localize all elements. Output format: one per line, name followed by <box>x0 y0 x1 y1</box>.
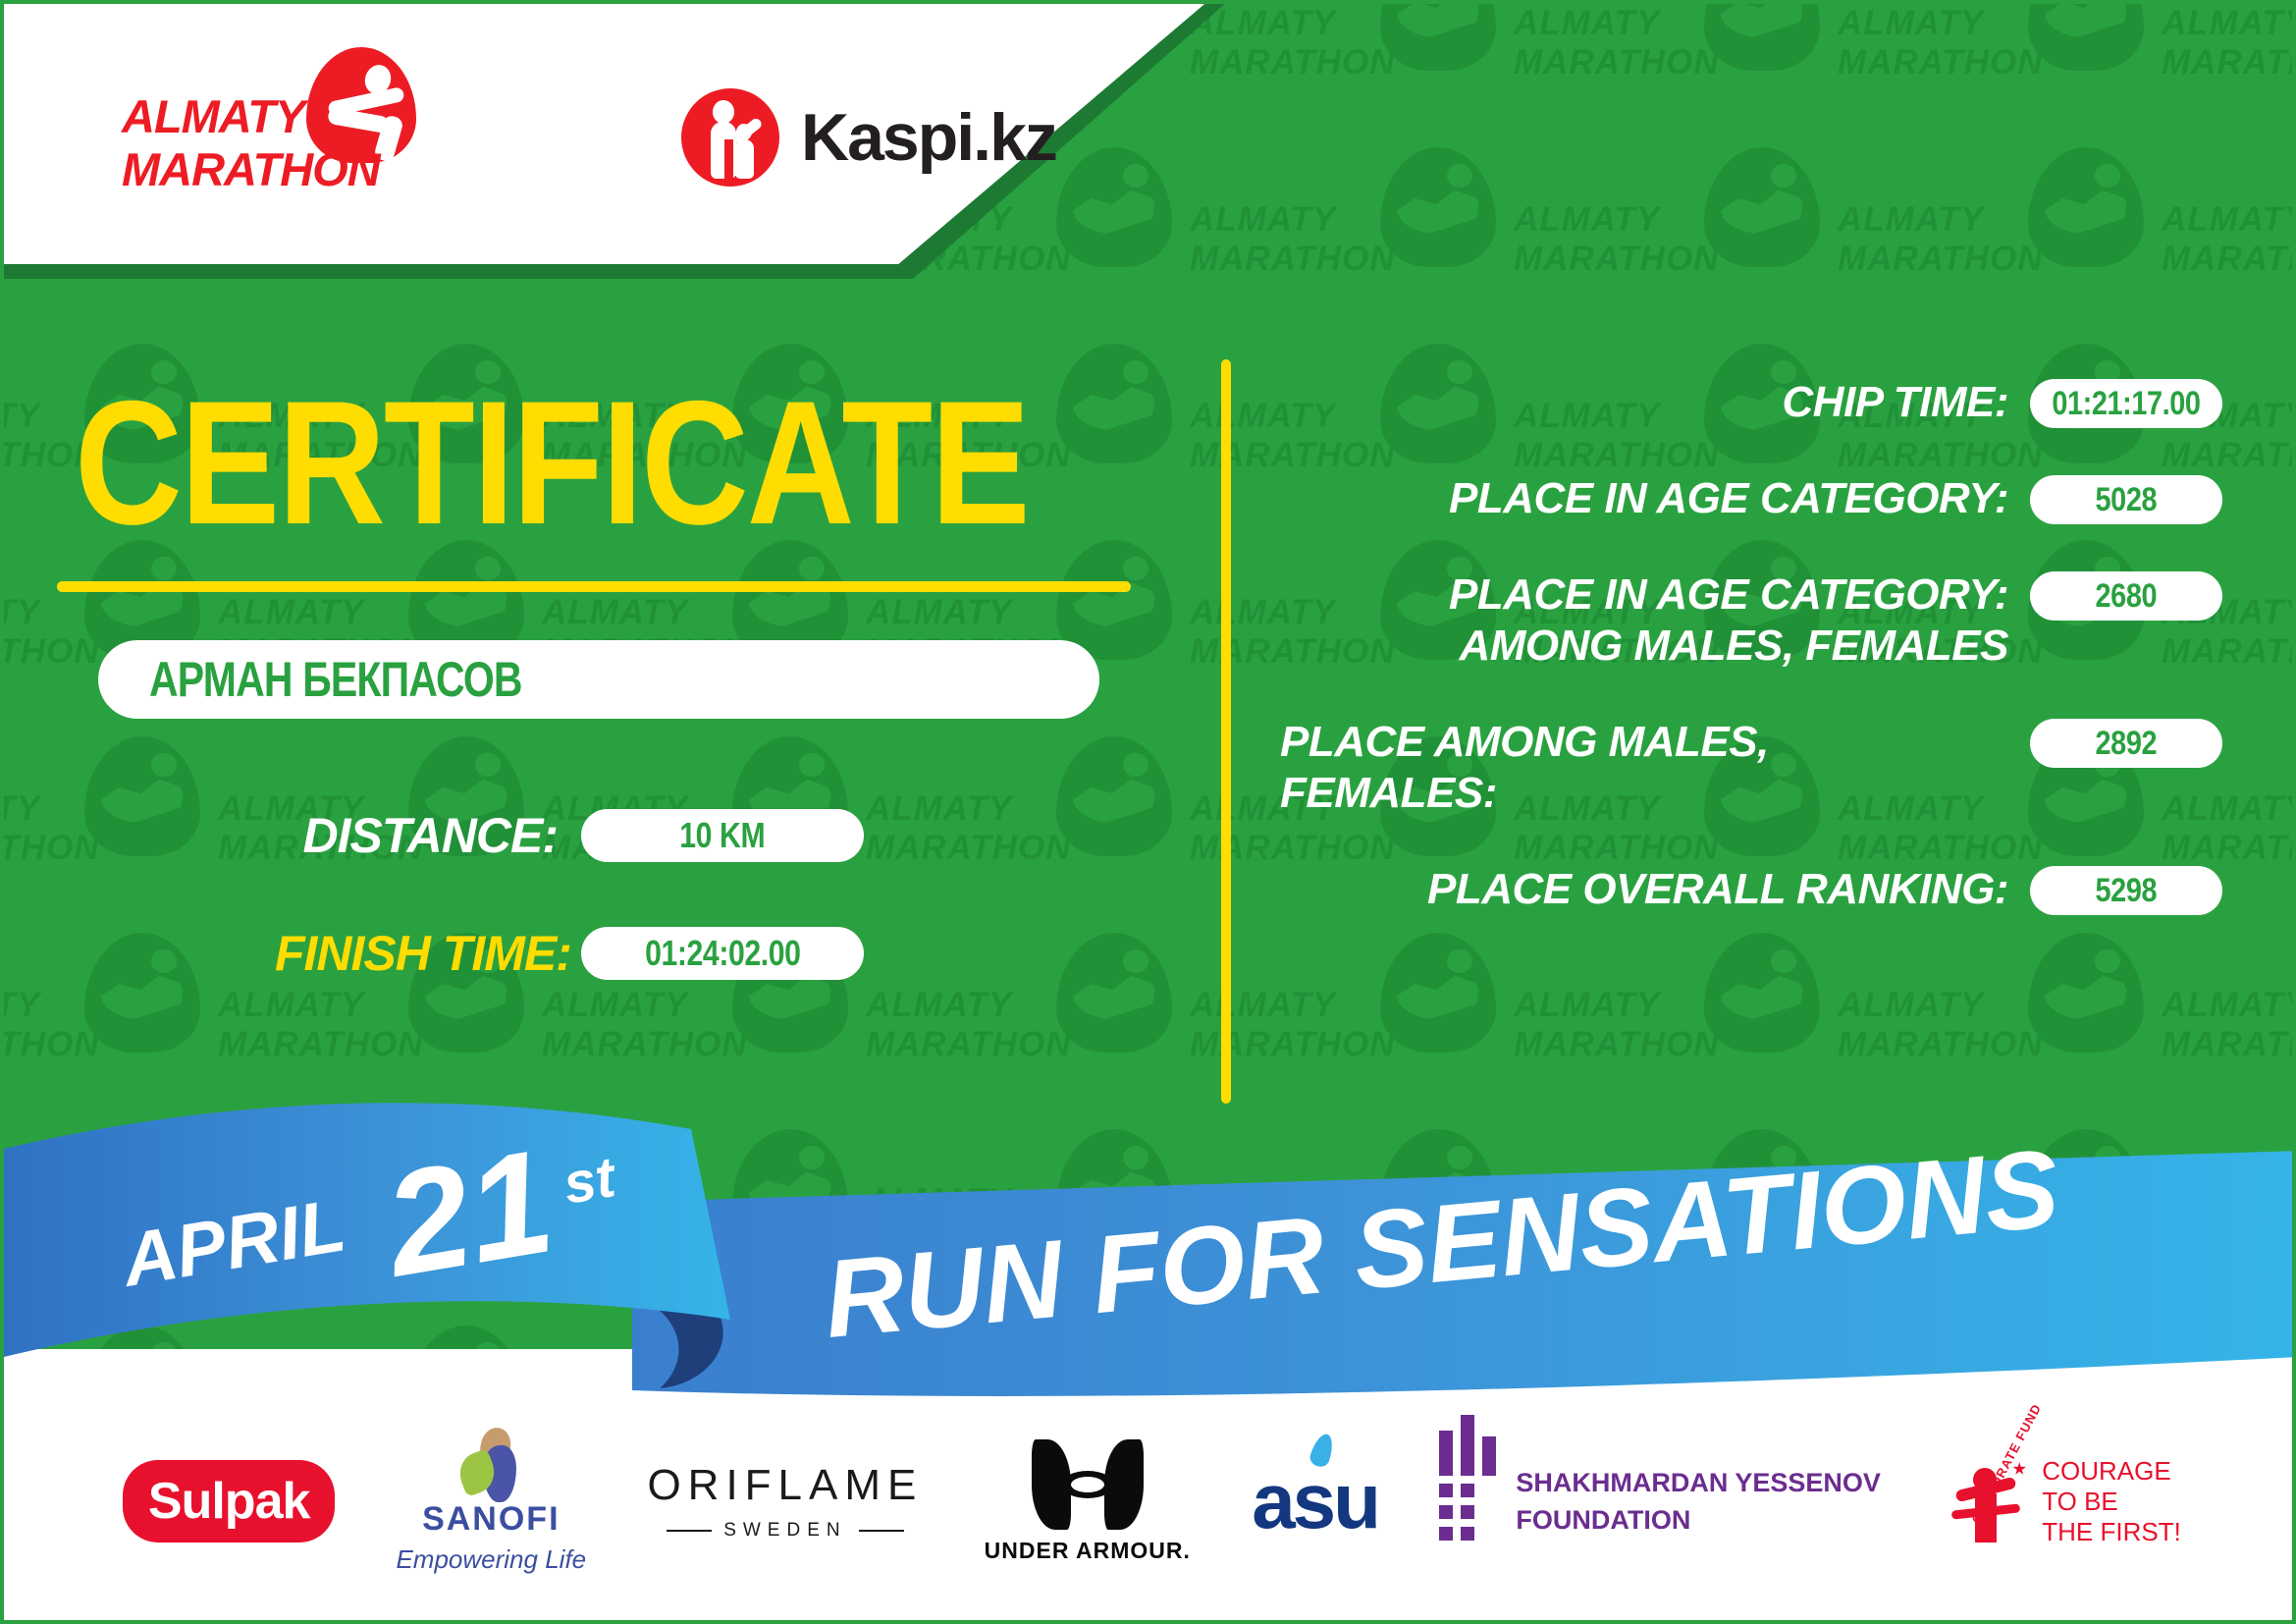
stat-value: 2680 <box>2096 577 2158 616</box>
watermark-tile: ALMATYMARATHON <box>1830 4 2154 141</box>
watermark-line1: ALMATY <box>1838 200 1984 240</box>
watermark-runner-icon <box>84 933 200 1053</box>
almaty-marathon-logo: ALMATY MARATHON <box>122 55 416 192</box>
watermark-line2: MARATHON <box>2162 1025 2292 1064</box>
watermark-line1: ALMATY <box>1190 200 1336 240</box>
under-armour-icon <box>1028 1439 1148 1530</box>
sanofi-wordmark: SANOFI <box>422 1500 560 1539</box>
sulpak-wordmark: Sulpak <box>148 1472 310 1531</box>
stat-label: CHIP TIME: <box>1280 377 2030 428</box>
watermark-runner-icon <box>1056 933 1172 1053</box>
vertical-divider <box>1221 359 1231 1104</box>
watermark-line1: ALMATY <box>1514 200 1660 240</box>
courage-fund-slogan: COURAGE TO BE THE FIRST! <box>2042 1456 2181 1547</box>
sponsor-under-armour: UNDER ARMOUR. <box>985 1428 1191 1575</box>
courage-fund-body-shape <box>1975 1493 1997 1543</box>
sponsor-oriflame: ORIFLAME SWEDEN <box>647 1428 923 1575</box>
finish-time-value-field: 01:24:02.00 <box>581 927 864 980</box>
yessenov-bar <box>1439 1484 1453 1497</box>
watermark-tile: ALMATYMARATHON <box>1506 4 1830 141</box>
watermark-line2: MARATHON <box>2162 240 2292 279</box>
watermark-runner-icon <box>2028 147 2144 267</box>
watermark-runner-icon <box>1380 4 1496 71</box>
watermark-line1: ALMATY <box>218 986 364 1025</box>
watermark-tile: ALMATYMARATHON <box>4 731 210 927</box>
watermark-runner-icon <box>1704 147 1820 267</box>
watermark-runner-icon <box>84 736 200 856</box>
stat-value: 2892 <box>2096 725 2158 763</box>
watermark-line2: MARATHON <box>1838 1025 2044 1064</box>
yessenov-wordmark: SHAKHMARDAN YESSENOV FOUNDATION <box>1516 1464 1881 1539</box>
distance-value-field: 10 KM <box>581 809 864 862</box>
watermark-line1: ALMATY <box>866 789 1012 829</box>
oriflame-wordmark: ORIFLAME <box>647 1461 923 1510</box>
sponsor-sanofi: SANOFI Empowering Life <box>396 1428 586 1575</box>
watermark-line2: MARATHON <box>1838 240 2044 279</box>
yessenov-bar <box>1461 1484 1474 1497</box>
watermark-line1: ALMATY <box>1514 4 1660 43</box>
yessenov-bar <box>1461 1505 1474 1519</box>
watermark-runner-icon <box>1056 736 1172 856</box>
under-armour-wordmark: UNDER ARMOUR. <box>985 1538 1191 1564</box>
sulpak-logo: Sulpak <box>123 1460 335 1543</box>
watermark-line1: ALMATY <box>4 397 40 436</box>
distance-row: DISTANCE: 10 KM <box>275 807 864 864</box>
kaspi-child-head-shape <box>736 124 752 140</box>
stat-value-field: 2892 <box>2030 719 2222 768</box>
watermark-line1: ALMATY <box>866 986 1012 1025</box>
watermark-line1: ALMATY <box>4 986 40 1025</box>
watermark-line2: MARATHON <box>218 1025 424 1064</box>
stat-value-field: 5298 <box>2030 866 2222 915</box>
watermark-line1: ALMATY <box>2162 200 2292 240</box>
watermark-runner-icon <box>1056 344 1172 463</box>
sanofi-icon <box>455 1428 526 1494</box>
courage-fund-icon: CORPORATE FUND <box>1942 1454 2028 1548</box>
watermark-runner-icon <box>2028 4 2144 71</box>
page-title: CERTIFICATE <box>75 375 1029 551</box>
watermark-line2: MARATHON <box>866 829 1072 868</box>
watermark-line2: MARATHON <box>1514 43 1720 82</box>
oriflame-subline: SWEDEN <box>667 1520 903 1542</box>
stat-value-field: 5028 <box>2030 475 2222 524</box>
sponsor-yessenov-foundation: SHAKHMARDAN YESSENOV FOUNDATION <box>1439 1428 1881 1575</box>
watermark-line1: ALMATY <box>542 986 688 1025</box>
stat-row: PLACE IN AGE CATEGORY:5028 <box>1280 473 2222 524</box>
courage-fund-star-shape <box>2012 1462 2026 1476</box>
watermark-line2: MARATHON <box>4 829 100 868</box>
stat-value: 5028 <box>2096 481 2158 519</box>
participant-name: АРМАН БЕКПАСОВ <box>149 651 522 708</box>
oriflame-rule-left <box>667 1530 712 1532</box>
yessenov-bar <box>1482 1436 1496 1476</box>
watermark-runner-icon <box>1704 4 1820 71</box>
watermark-tile: ALMATYMARATHON <box>1830 141 2154 338</box>
watermark-runner-icon <box>1056 147 1172 267</box>
watermark-line1: ALMATY <box>1514 986 1660 1025</box>
finish-time-row: FINISH TIME: 01:24:02.00 <box>275 925 864 982</box>
watermark-line1: ALMATY <box>866 593 1012 632</box>
yessenov-bar <box>1439 1527 1453 1541</box>
sponsor-courage-fund: CORPORATE FUND COURAGE TO BE THE FIRST! <box>1942 1428 2181 1575</box>
oriflame-rule-right <box>859 1530 904 1532</box>
watermark-tile: ALMATYMARATHON <box>2154 141 2292 338</box>
stat-label: PLACE AMONG MALES, FEMALES: <box>1280 717 2030 819</box>
watermark-line2: MARATHON <box>542 1025 748 1064</box>
watermark-line2: MARATHON <box>1190 240 1396 279</box>
watermark-line2: MARATHON <box>2162 43 2292 82</box>
stat-row: PLACE IN AGE CATEGORY: AMONG MALES, FEMA… <box>1280 569 2222 672</box>
watermark-line2: MARATHON <box>1190 43 1396 82</box>
kaspi-family-icon <box>681 88 779 187</box>
kaspi-child-body-shape <box>735 139 754 179</box>
yessenov-bars-icon <box>1439 1462 1496 1541</box>
sponsor-asu: asu <box>1252 1428 1378 1575</box>
watermark-line2: MARATHON <box>1838 43 2044 82</box>
watermark-line2: MARATHON <box>1514 240 1720 279</box>
kaspi-figure-gap <box>724 139 733 181</box>
distance-label: DISTANCE: <box>275 807 558 864</box>
participant-name-field: АРМАН БЕКПАСОВ <box>98 640 1099 719</box>
almaty-marathon-wordmark: ALMATY MARATHON <box>122 90 380 196</box>
kaspi-wordmark: Kaspi.kz <box>801 99 1056 176</box>
asu-wordmark: asu <box>1252 1456 1378 1546</box>
stat-value: 01:21:17.00 <box>2052 385 2200 423</box>
watermark-line2: MARATHON <box>4 632 100 672</box>
event-date-ribbon: APRIL 21 st RUN FOR SENSATIONS <box>4 1094 2296 1418</box>
watermark-line1: ALMATY <box>1190 986 1336 1025</box>
sanofi-tagline: Empowering Life <box>396 1544 586 1575</box>
distance-value: 10 KM <box>680 815 766 856</box>
watermark-tile: ALMATYMARATHON <box>2154 4 2292 141</box>
watermark-line1: ALMATY <box>2162 986 2292 1025</box>
stat-value-field: 2680 <box>2030 571 2222 621</box>
yessenov-bar <box>1461 1415 1474 1476</box>
sponsor-logos-bar: Sulpak SANOFI Empowering Life ORIFLAME S… <box>4 1408 2296 1595</box>
watermark-tile: ALMATYMARATHON <box>858 731 1182 927</box>
finish-time-label: FINISH TIME: <box>275 925 558 982</box>
almaty-marathon-line2: MARATHON <box>122 143 380 196</box>
finish-time-value: 01:24:02.00 <box>645 933 800 974</box>
oriflame-country: SWEDEN <box>723 1520 846 1542</box>
stat-value: 5298 <box>2096 872 2158 910</box>
watermark-line1: ALMATY <box>4 789 40 829</box>
watermark-line2: MARATHON <box>4 1025 100 1064</box>
watermark-line1: ALMATY <box>4 593 40 632</box>
watermark-tile: ALMATYMARATHON <box>1182 4 1506 141</box>
certificate-page: ALMATYMARATHONALMATYMARATHONALMATYMARATH… <box>0 0 2296 1624</box>
stat-value-field: 01:21:17.00 <box>2030 379 2222 428</box>
almaty-marathon-line1: ALMATY <box>122 90 380 143</box>
watermark-line1: ALMATY <box>2162 4 2292 43</box>
watermark-line2: MARATHON <box>866 1025 1072 1064</box>
results-stats-list: CHIP TIME:01:21:17.00PLACE IN AGE CATEGO… <box>1280 377 2222 960</box>
stat-row: PLACE AMONG MALES, FEMALES:2892 <box>1280 717 2222 819</box>
watermark-tile: ALMATYMARATHON <box>1506 141 1830 338</box>
watermark-line1: ALMATY <box>542 593 688 632</box>
kaspi-adult-head-shape <box>713 100 734 124</box>
ribbon-day-number: 21 <box>372 1117 563 1308</box>
watermark-line1: ALMATY <box>1838 4 1984 43</box>
watermark-line1: ALMATY <box>1838 986 1984 1025</box>
stat-label: PLACE IN AGE CATEGORY: AMONG MALES, FEMA… <box>1280 569 2030 672</box>
yessenov-bar <box>1461 1527 1474 1541</box>
watermark-line1: ALMATY <box>218 593 364 632</box>
watermark-tile: ALMATYMARATHON <box>1182 141 1506 338</box>
kaspi-logo: Kaspi.kz <box>681 88 1056 187</box>
watermark-line2: MARATHON <box>1514 1025 1720 1064</box>
ua-center-cut-shape <box>1071 1477 1104 1492</box>
stat-row: PLACE OVERALL RANKING:5298 <box>1280 864 2222 915</box>
title-underline <box>57 581 1131 592</box>
yessenov-bar <box>1439 1431 1453 1476</box>
sponsor-sulpak: Sulpak <box>123 1428 335 1575</box>
stat-label: PLACE OVERALL RANKING: <box>1280 864 2030 915</box>
stat-label: PLACE IN AGE CATEGORY: <box>1280 473 2030 524</box>
yessenov-bar <box>1439 1505 1453 1519</box>
watermark-runner-icon <box>1380 147 1496 267</box>
stat-row: CHIP TIME:01:21:17.00 <box>1280 377 2222 428</box>
